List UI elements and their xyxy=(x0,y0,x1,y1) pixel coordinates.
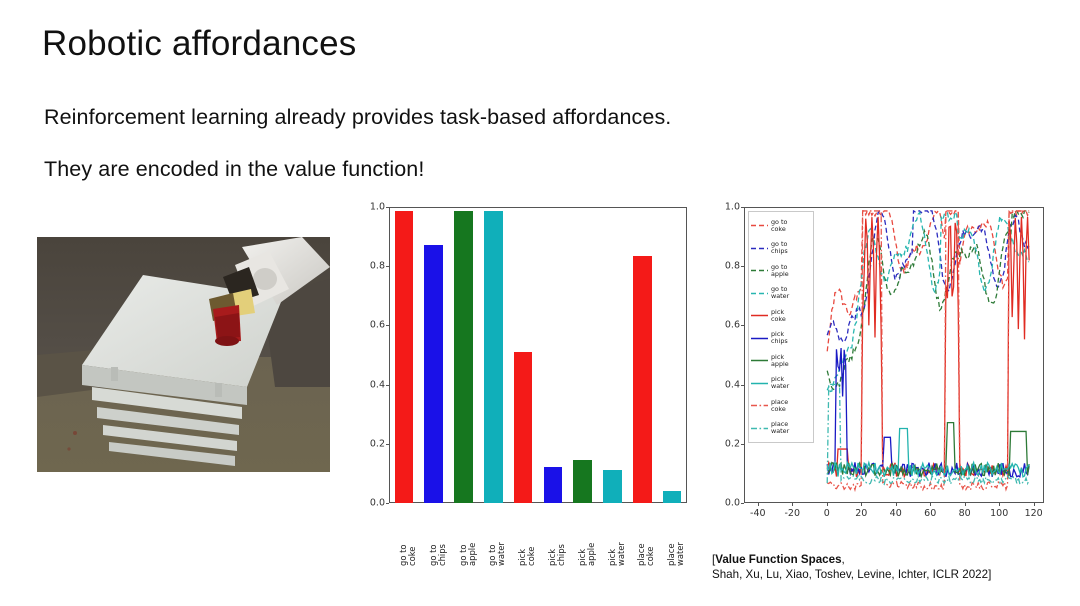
line-x-tick-label: 40 xyxy=(890,508,902,519)
line-series-path xyxy=(827,211,1029,351)
line-y-tick-mark xyxy=(741,325,744,326)
legend-item-label: place water xyxy=(771,421,789,435)
line-y-tick-mark xyxy=(741,385,744,386)
bar-chart-bar xyxy=(544,467,562,503)
legend-item-label: pick water xyxy=(771,376,789,390)
bar-chart-category-label: place water xyxy=(667,506,685,566)
legend-item-label: go to apple xyxy=(771,264,789,278)
line-x-tick-mark xyxy=(930,503,931,506)
legend-line-swatch-icon xyxy=(751,289,768,298)
bar-y-tick-mark xyxy=(386,325,389,326)
bar-chart-bar xyxy=(454,211,472,503)
citation: [Value Function Spaces, Shah, Xu, Lu, Xi… xyxy=(712,552,1072,582)
bar-y-tick-label: 0.8 xyxy=(370,261,385,272)
citation-separator: , xyxy=(842,553,845,566)
citation-work-title: Value Function Spaces xyxy=(715,553,841,566)
line-y-tick-mark xyxy=(741,266,744,267)
line-x-tick-label: 80 xyxy=(959,508,971,519)
bar-chart-bar xyxy=(603,470,621,503)
line-x-tick-label: 120 xyxy=(1025,508,1043,519)
legend-line-swatch-icon xyxy=(751,379,768,388)
legend-item-label: pick coke xyxy=(771,309,786,323)
legend-item-label: place coke xyxy=(771,399,788,413)
body-text-line-1: Reinforcement learning already provides … xyxy=(44,105,671,130)
line-y-tick-label: 0.2 xyxy=(725,438,740,449)
bar-chart-category-label: pick coke xyxy=(518,506,536,566)
line-x-tick-label: 20 xyxy=(855,508,867,519)
page-title: Robotic affordances xyxy=(42,26,356,63)
bar-chart-category-label: go to water xyxy=(488,506,506,566)
legend-item[interactable]: go to apple xyxy=(751,260,810,282)
legend-line-swatch-icon xyxy=(751,311,768,320)
legend-item-label: pick apple xyxy=(771,354,789,368)
legend-item-label: go to coke xyxy=(771,219,787,233)
legend-item[interactable]: go to water xyxy=(751,283,810,305)
line-x-tick-mark xyxy=(896,503,897,506)
affordance-bar-chart: 0.00.20.40.60.81.0 go to cokego to chips… xyxy=(359,203,694,513)
robot-gripper-icon xyxy=(37,237,330,472)
legend-item-label: go to chips xyxy=(771,241,788,255)
line-x-tick-label: 100 xyxy=(990,508,1008,519)
line-series-path xyxy=(827,217,1029,477)
legend-line-swatch-icon xyxy=(751,266,768,275)
bar-chart-bar xyxy=(395,211,413,503)
bar-y-tick-mark xyxy=(386,207,389,208)
bar-y-tick-label: 0.2 xyxy=(370,438,385,449)
legend-item[interactable]: pick coke xyxy=(751,305,810,327)
bar-chart-category-label: go to apple xyxy=(459,506,477,566)
line-y-tick-mark xyxy=(741,207,744,208)
line-chart-legend: go to cokego to chipsgo to applego to wa… xyxy=(748,211,814,443)
legend-line-swatch-icon xyxy=(751,221,768,230)
line-series-path xyxy=(827,211,1029,390)
legend-item[interactable]: go to chips xyxy=(751,238,810,260)
bar-chart-bar xyxy=(663,491,681,503)
line-x-tick-label: 60 xyxy=(924,508,936,519)
line-series-path xyxy=(827,211,1029,342)
line-x-tick-mark xyxy=(792,503,793,506)
bar-y-tick-mark xyxy=(386,444,389,445)
legend-line-swatch-icon xyxy=(751,356,768,365)
bar-chart-category-label: pick water xyxy=(608,506,626,566)
legend-item[interactable]: pick chips xyxy=(751,328,810,350)
slide-canvas: Robotic affordances Reinforcement learni… xyxy=(0,0,1080,606)
bar-chart-bar xyxy=(424,245,442,503)
legend-item-label: pick chips xyxy=(771,331,788,345)
body-text-line-2: They are encoded in the value function! xyxy=(44,157,424,182)
line-y-tick-label: 0.8 xyxy=(725,261,740,272)
bar-y-tick-label: 0.6 xyxy=(370,320,385,331)
line-x-tick-mark xyxy=(965,503,966,506)
value-function-timeseries-chart: 0.00.20.40.60.81.0 -40-20020406080100120… xyxy=(712,203,1050,513)
legend-item[interactable]: pick water xyxy=(751,373,810,395)
line-x-tick-mark xyxy=(827,503,828,506)
legend-line-swatch-icon xyxy=(751,244,768,253)
bar-y-tick-label: 1.0 xyxy=(370,202,385,213)
line-y-tick-label: 1.0 xyxy=(725,202,740,213)
citation-authors: Shah, Xu, Lu, Xiao, Toshev, Levine, Icht… xyxy=(712,568,991,581)
line-y-tick-mark xyxy=(741,444,744,445)
bar-chart-bar xyxy=(514,352,532,503)
bar-y-tick-label: 0.4 xyxy=(370,379,385,390)
legend-item[interactable]: place water xyxy=(751,418,810,440)
line-x-tick-label: -20 xyxy=(785,508,801,519)
bar-y-tick-mark xyxy=(386,266,389,267)
legend-line-swatch-icon xyxy=(751,424,768,433)
line-y-tick-label: 0.6 xyxy=(725,320,740,331)
bar-chart-category-label: pick apple xyxy=(578,506,596,566)
line-x-tick-mark xyxy=(861,503,862,506)
bar-chart-category-label: go to chips xyxy=(429,506,447,566)
line-x-tick-label: 0 xyxy=(824,508,830,519)
line-series-path xyxy=(827,348,1029,477)
bar-y-tick-label: 0.0 xyxy=(370,498,385,509)
bar-chart-category-label: place coke xyxy=(637,506,655,566)
bar-chart-bar xyxy=(573,460,591,503)
line-x-tick-label: -40 xyxy=(750,508,766,519)
line-y-tick-label: 0.4 xyxy=(725,379,740,390)
bar-y-tick-mark xyxy=(386,385,389,386)
bar-chart-bar xyxy=(484,211,502,503)
line-series-path xyxy=(827,211,1029,490)
robot-scene-image xyxy=(37,237,330,472)
legend-item[interactable]: go to coke xyxy=(751,215,810,237)
legend-line-swatch-icon xyxy=(751,401,768,410)
legend-item[interactable]: place coke xyxy=(751,395,810,417)
bar-y-tick-mark xyxy=(386,503,389,504)
line-x-tick-mark xyxy=(758,503,759,506)
line-y-tick-mark xyxy=(741,503,744,504)
legend-item-label: go to water xyxy=(771,286,789,300)
line-x-tick-mark xyxy=(999,503,1000,506)
bar-chart-bar xyxy=(633,256,651,503)
line-x-tick-mark xyxy=(1034,503,1035,506)
bar-chart-category-label: pick chips xyxy=(548,506,566,566)
legend-line-swatch-icon xyxy=(751,334,768,343)
bar-chart-category-label: go to coke xyxy=(399,506,417,566)
line-y-tick-label: 0.0 xyxy=(725,498,740,509)
legend-item[interactable]: pick apple xyxy=(751,350,810,372)
